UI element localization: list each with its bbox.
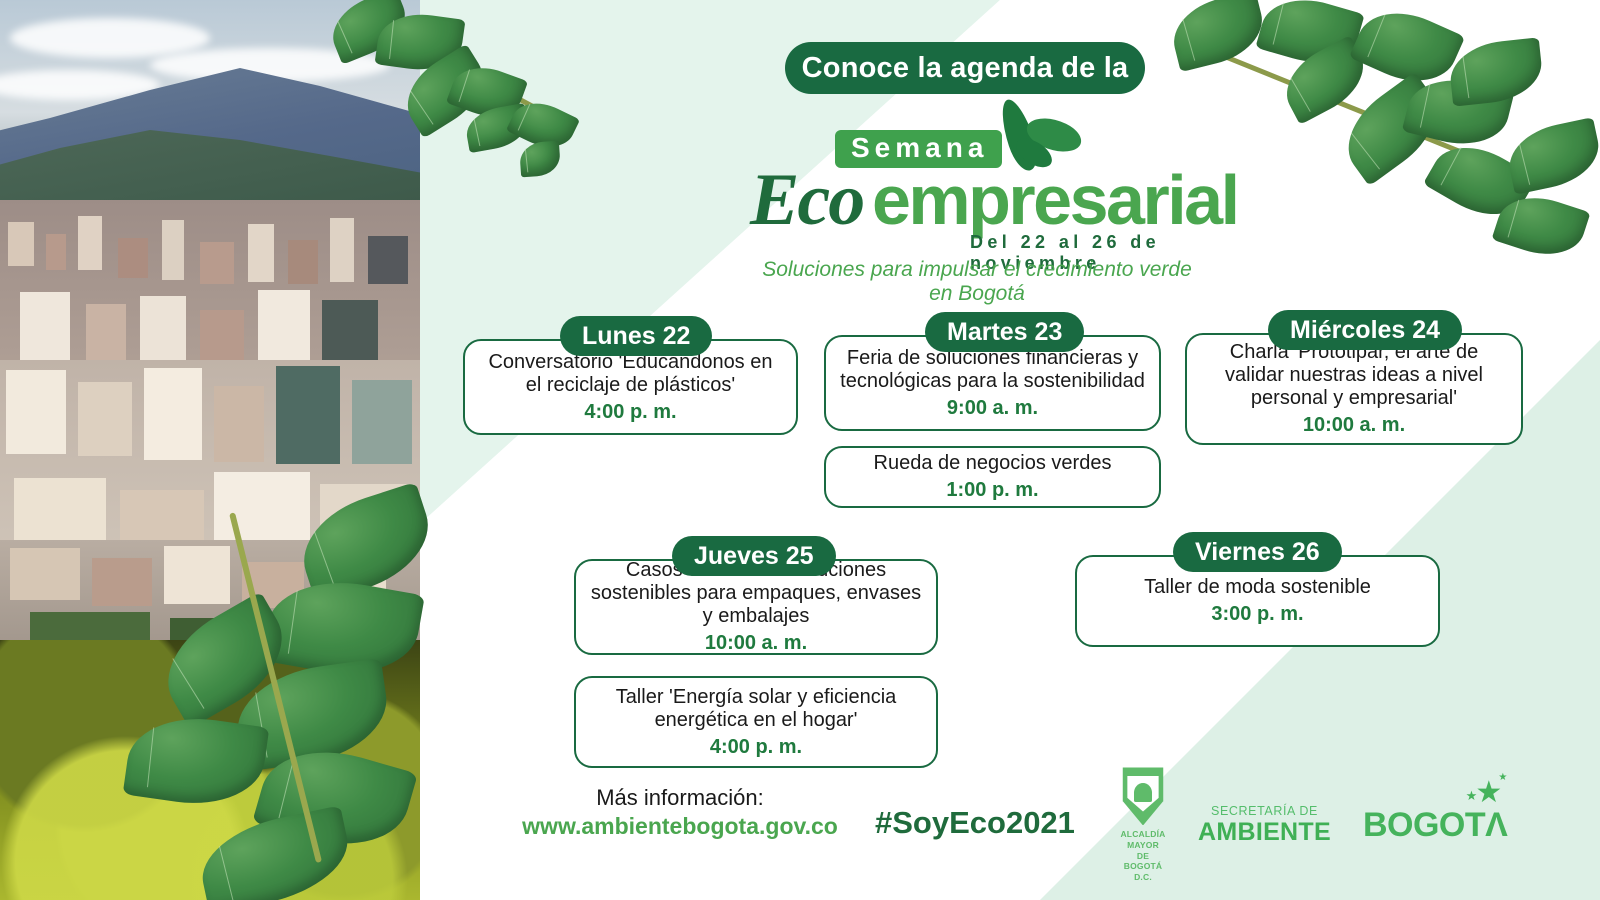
star-small-icon: ★: [1466, 788, 1478, 804]
tagline: Soluciones para impulsar el crecimiento …: [752, 258, 1202, 306]
event-title: Taller de moda sostenible: [1144, 576, 1371, 599]
star-tiny-icon: ★: [1498, 772, 1507, 783]
alcaldia-logo: ALCALDÍA MAYOR DE BOGOTÁ D.C.: [1120, 767, 1166, 882]
institutional-logos: ALCALDÍA MAYOR DE BOGOTÁ D.C. SECRETARÍA…: [1120, 780, 1490, 870]
hashtag: #SoyEco2021: [875, 805, 1075, 841]
secretaria-top-text: SECRETARÍA DE: [1198, 804, 1331, 818]
alcaldia-line-1: ALCALDÍA MAYOR: [1120, 829, 1166, 850]
event-time: 3:00 p. m.: [1211, 603, 1303, 626]
city-band-upper: [0, 200, 420, 380]
event-title: Charla 'Prototipar, el arte de validar n…: [1201, 341, 1507, 410]
day-pill-viernes-26: Viernes 26: [1173, 532, 1342, 572]
event-time: 4:00 p. m.: [710, 736, 802, 759]
event-time: 10:00 a. m.: [705, 632, 807, 655]
event-card: Rueda de negocios verdes 1:00 p. m.: [824, 446, 1161, 508]
bogota-wordmark: BOGOT: [1363, 806, 1485, 845]
event-card: Taller 'Energía solar y eficiencia energ…: [574, 676, 938, 768]
alcaldia-line-2: DE BOGOTÁ D.C.: [1120, 851, 1166, 883]
event-time: 9:00 a. m.: [947, 397, 1038, 420]
day-pill-miercoles-24: Miércoles 24: [1268, 310, 1462, 350]
shield-icon: [1120, 767, 1166, 825]
star-icon: ★: [1475, 780, 1501, 806]
event-title: Feria de soluciones financieras y tecnol…: [840, 347, 1145, 393]
cloud: [10, 18, 210, 58]
logo-eco: Eco: [750, 158, 863, 243]
header-kicker-text: Conoce la agenda de la: [802, 52, 1129, 85]
day-pill-lunes-22: Lunes 22: [560, 316, 712, 356]
event-title: Conversatorio 'Educándonos en el recicla…: [479, 351, 782, 397]
event-time: 1:00 p. m.: [946, 479, 1038, 502]
eagle-icon: [1134, 783, 1152, 803]
day-pill-martes-23: Martes 23: [925, 312, 1084, 352]
event-time: 10:00 a. m.: [1303, 414, 1405, 437]
secretaria-ambiente-logo: SECRETARÍA DE AMBIENTE: [1198, 804, 1331, 847]
bogota-a-mark: Λ: [1485, 806, 1507, 845]
event-time: 4:00 p. m.: [584, 401, 676, 424]
header-kicker-pill: Conoce la agenda de la: [785, 42, 1145, 94]
logo-empresarial: empresarial: [872, 160, 1238, 240]
poster-canvas: Conoce la agenda de la Semana Eco empres…: [0, 0, 1600, 900]
event-title: Taller 'Energía solar y eficiencia energ…: [590, 686, 922, 732]
day-pill-jueves-25: Jueves 25: [672, 536, 836, 576]
event-title: Rueda de negocios verdes: [874, 452, 1112, 475]
more-info-label: Más información:: [530, 785, 830, 811]
website-link[interactable]: www.ambientebogota.gov.co: [500, 813, 860, 840]
secretaria-bottom-text: AMBIENTE: [1198, 818, 1331, 847]
bogota-logo: BOGOT Λ ★ ★ ★: [1363, 806, 1507, 845]
